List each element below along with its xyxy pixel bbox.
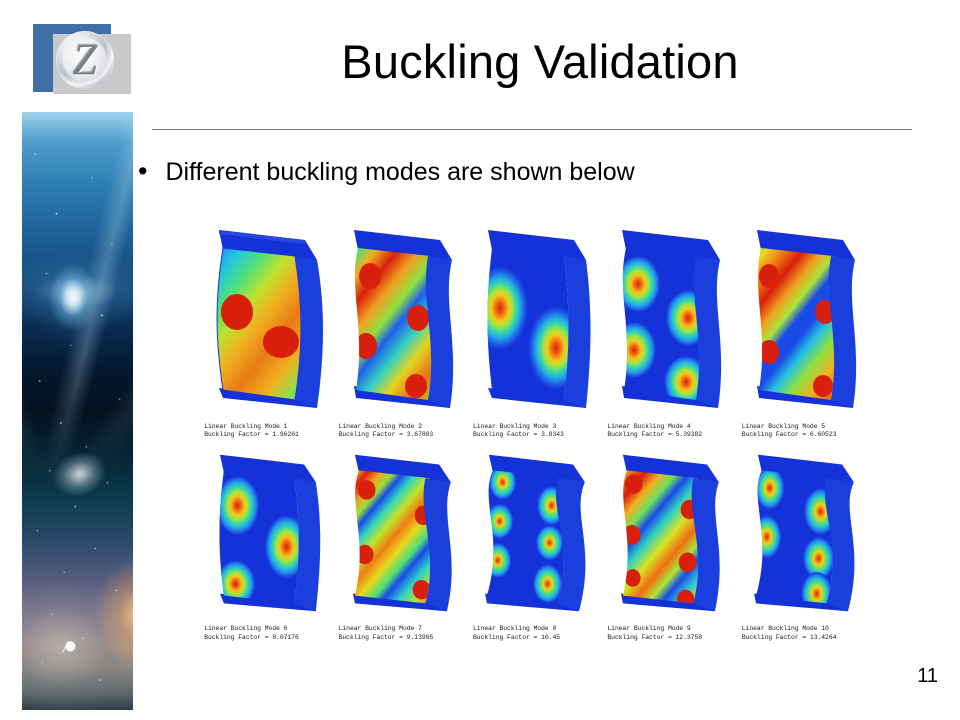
mode-caption-10: Linear Buckling Mode 10 Buckling Factor …	[742, 625, 860, 641]
mode-caption-9: Linear Buckling Mode 9 Buckling Factor =…	[607, 625, 725, 641]
mode-figure-3	[466, 214, 598, 422]
mode-cell-7: Linear Buckling Mode 7 Buckling Factor =…	[330, 441, 464, 641]
mode-caption-7: Linear Buckling Mode 7 Buckling Factor =…	[339, 625, 457, 641]
title-divider	[152, 129, 912, 130]
bullet-marker-icon: •	[138, 156, 147, 186]
logo-letter-z: Z	[57, 28, 113, 92]
page-number: 11	[917, 665, 938, 688]
mode-caption-2: Linear Buckling Mode 2 Buckling Factor =…	[339, 423, 457, 439]
mode-cell-4: Linear Buckling Mode 4 Buckling Factor =…	[599, 214, 733, 439]
mode-cell-1: Linear Buckling Mode 1 Buckling Factor =…	[196, 214, 330, 439]
mode-figure-8	[466, 441, 598, 623]
mode-cell-10: Linear Buckling Mode 10 Buckling Factor …	[734, 441, 868, 641]
mode-cell-5: Linear Buckling Mode 5 Buckling Factor =…	[734, 214, 868, 439]
mode-figure-10	[735, 441, 867, 623]
mode-caption-6: Linear Buckling Mode 6 Buckling Factor =…	[204, 625, 322, 641]
mode-figure-4	[600, 214, 732, 422]
mode-cell-6: Linear Buckling Mode 6 Buckling Factor =…	[196, 441, 330, 641]
mode-figure-5	[735, 214, 867, 422]
mode-caption-1: Linear Buckling Mode 1 Buckling Factor =…	[204, 423, 322, 439]
mode-cell-2: Linear Buckling Mode 2 Buckling Factor =…	[330, 214, 464, 439]
mode-figure-6	[197, 441, 329, 623]
space-nebula-band	[22, 112, 133, 710]
starfield	[22, 112, 133, 710]
mode-caption-5: Linear Buckling Mode 5 Buckling Factor =…	[742, 423, 860, 439]
page-title: Buckling Validation	[150, 34, 930, 89]
mode-figure-1	[197, 214, 329, 422]
mode-figure-9	[600, 441, 732, 623]
mode-caption-4: Linear Buckling Mode 4 Buckling Factor =…	[607, 423, 725, 439]
z-circle-logo: Z	[33, 24, 131, 104]
comet-icon	[55, 641, 77, 653]
mode-cell-8: Linear Buckling Mode 8 Buckling Factor =…	[465, 441, 599, 641]
mode-figure-7	[332, 441, 464, 623]
buckling-mode-grid: Linear Buckling Mode 1 Buckling Factor =…	[196, 214, 868, 642]
mode-cell-9: Linear Buckling Mode 9 Buckling Factor =…	[599, 441, 733, 641]
mode-cell-3: Linear Buckling Mode 3 Buckling Factor =…	[465, 214, 599, 439]
mode-caption-3: Linear Buckling Mode 3 Buckling Factor =…	[473, 423, 591, 439]
mode-caption-8: Linear Buckling Mode 8 Buckling Factor =…	[473, 625, 591, 641]
bullet-item-text: Different buckling modes are shown below	[165, 156, 634, 188]
mode-figure-2	[332, 214, 464, 422]
bullet-list: • Different buckling modes are shown bel…	[138, 156, 918, 188]
